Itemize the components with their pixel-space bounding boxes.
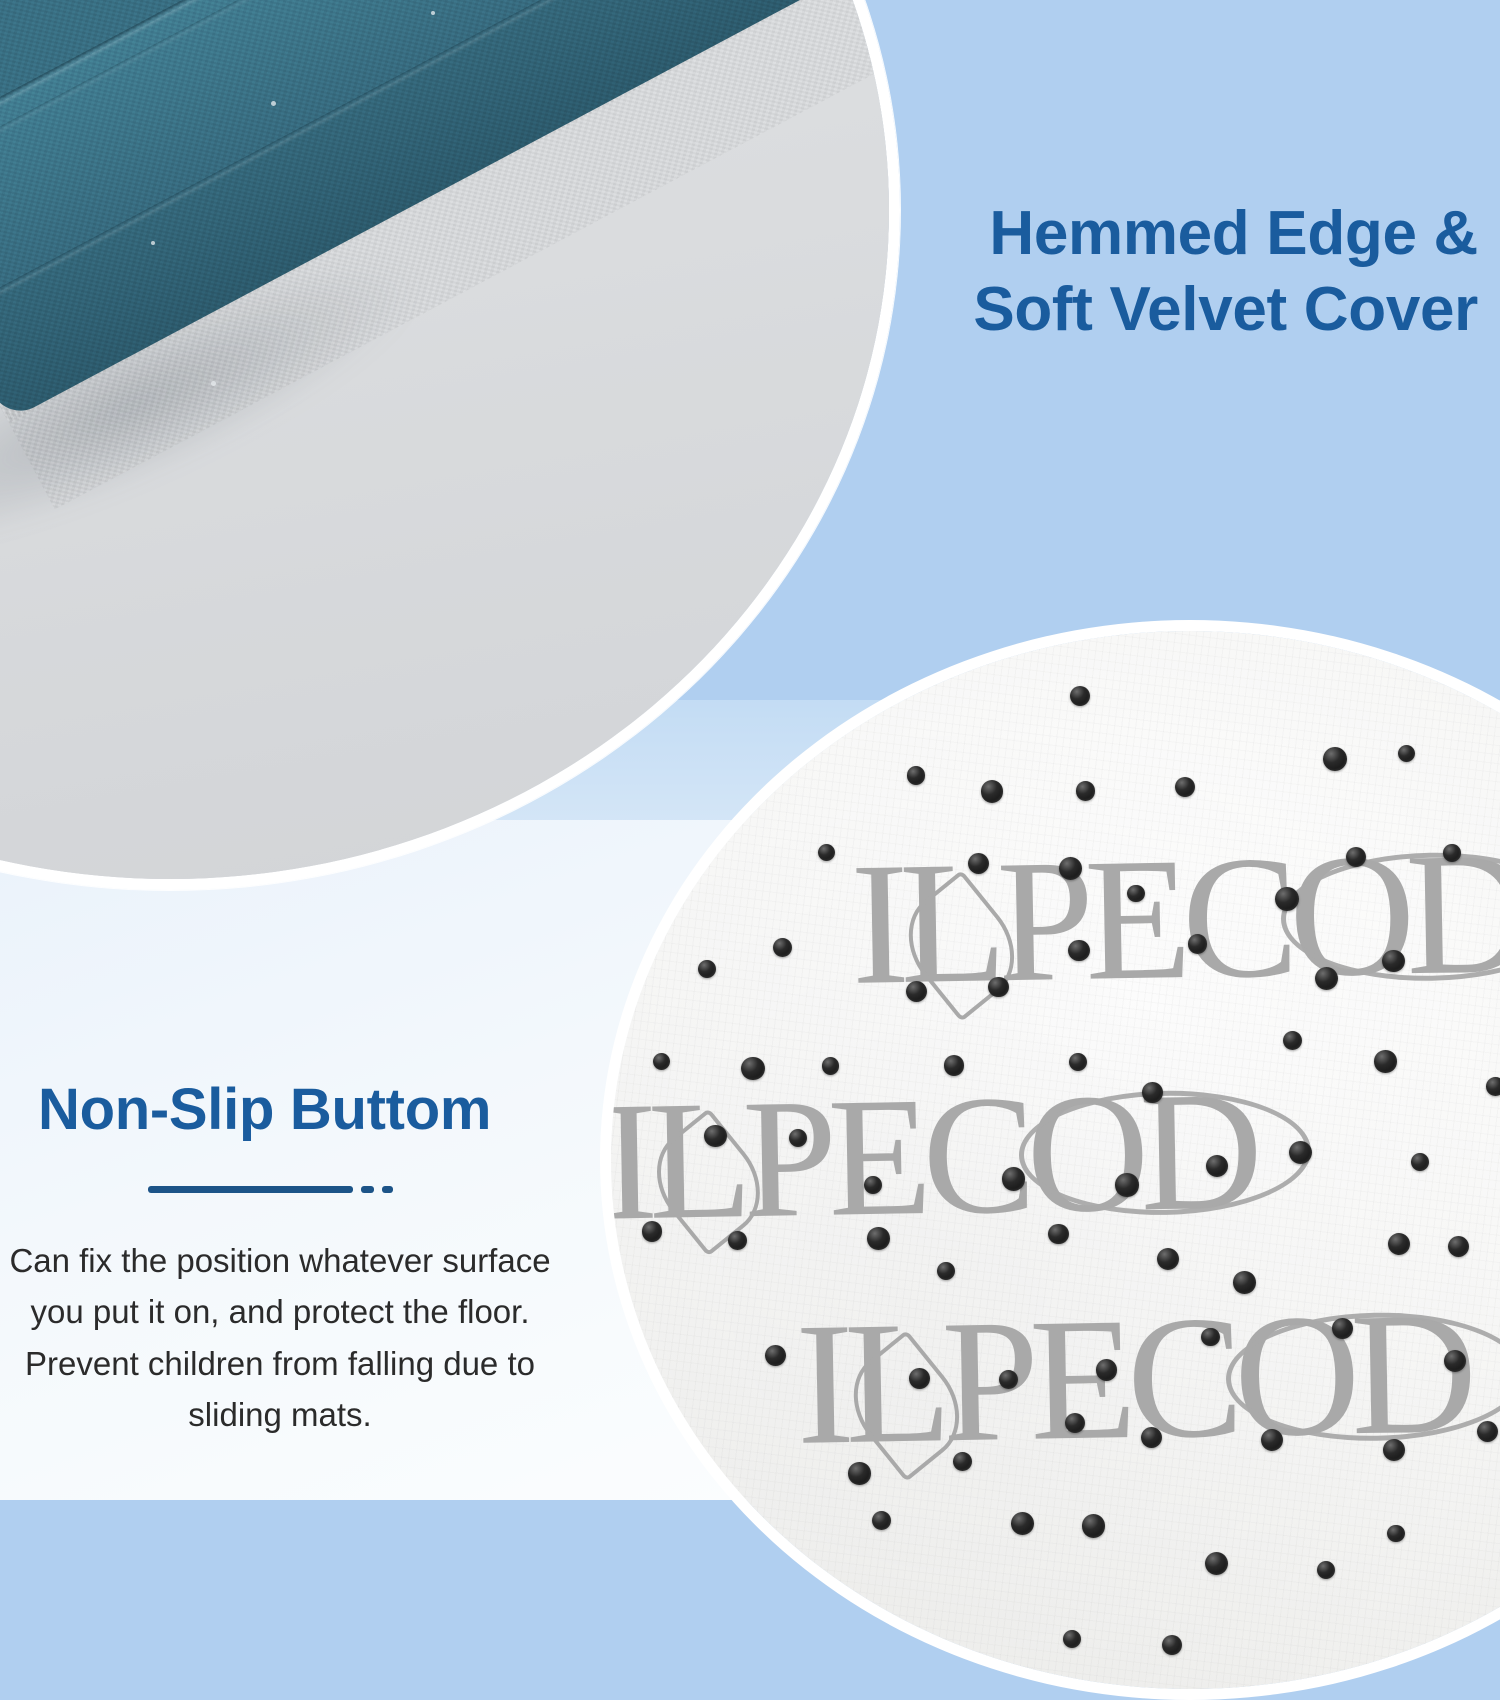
grip-dot bbox=[1387, 1525, 1405, 1543]
heading-line-1: Hemmed Edge & bbox=[758, 196, 1478, 272]
divider-bar bbox=[148, 1186, 353, 1193]
grip-dot bbox=[1315, 967, 1338, 990]
grip-dot bbox=[1448, 1236, 1469, 1257]
grip-dot bbox=[937, 1262, 955, 1280]
grip-dot bbox=[1332, 1318, 1353, 1339]
grip-dot bbox=[867, 1227, 890, 1250]
grip-dot bbox=[642, 1221, 662, 1241]
non-slip-text-block: Non-Slip Buttom Can fix the position wha… bbox=[0, 1078, 560, 1441]
grip-dot bbox=[1076, 781, 1096, 801]
non-slip-heading: Non-Slip Buttom bbox=[0, 1078, 560, 1142]
body-line-4: sliding mats. bbox=[0, 1389, 560, 1440]
heading-line-2: Soft Velvet Cover bbox=[758, 272, 1478, 348]
body-line-2: you put it on, and protect the floor. bbox=[0, 1286, 560, 1337]
grip-dot bbox=[1486, 1077, 1500, 1096]
grip-dot bbox=[1275, 887, 1299, 911]
grip-dot bbox=[1283, 1031, 1302, 1050]
body-line-1: Can fix the position whatever surface bbox=[0, 1235, 560, 1286]
grip-dot bbox=[1162, 1635, 1182, 1655]
divider-dash bbox=[361, 1186, 374, 1193]
grip-dot bbox=[765, 1345, 786, 1366]
lint-fleck bbox=[151, 241, 155, 245]
grip-dot bbox=[909, 1368, 930, 1389]
grip-dot bbox=[1382, 950, 1404, 972]
grip-dot bbox=[1096, 1359, 1117, 1380]
divider-dash bbox=[382, 1186, 393, 1193]
grip-dot bbox=[1188, 934, 1207, 953]
lint-fleck bbox=[271, 101, 276, 106]
grip-dot bbox=[728, 1231, 747, 1250]
mat-surface: ILPECOD ILPECOD ILPECOD bbox=[611, 631, 1500, 1689]
grip-dot bbox=[906, 981, 927, 1002]
grip-dot bbox=[864, 1176, 882, 1194]
grip-dot bbox=[1082, 1514, 1105, 1537]
hemmed-edge-heading: Hemmed Edge & Soft Velvet Cover bbox=[758, 196, 1478, 349]
lint-fleck bbox=[211, 381, 216, 386]
grip-dot bbox=[944, 1055, 964, 1075]
grip-dot bbox=[1388, 1233, 1410, 1255]
grip-dot bbox=[1069, 1053, 1087, 1071]
grip-dot bbox=[848, 1462, 870, 1484]
grip-dot bbox=[1205, 1552, 1228, 1575]
grip-dot bbox=[1233, 1271, 1256, 1294]
grip-dot bbox=[1115, 1173, 1138, 1196]
non-slip-body-copy: Can fix the position whatever surface yo… bbox=[0, 1235, 560, 1441]
grip-dot bbox=[1346, 847, 1366, 867]
grip-dot bbox=[907, 766, 925, 784]
body-line-3: Prevent children from falling due to bbox=[0, 1338, 560, 1389]
grip-dot bbox=[1065, 1413, 1085, 1433]
decorative-divider bbox=[0, 1186, 560, 1193]
grip-dot bbox=[653, 1053, 670, 1070]
grip-dot bbox=[1002, 1167, 1026, 1191]
grip-dot bbox=[1068, 940, 1090, 962]
grip-dot bbox=[1201, 1328, 1219, 1346]
grip-dot bbox=[981, 780, 1004, 803]
grip-dot bbox=[1011, 1512, 1034, 1535]
lint-fleck bbox=[431, 11, 435, 15]
grip-dot bbox=[822, 1057, 839, 1074]
grip-dot bbox=[1142, 1082, 1163, 1103]
watermark-logo: ILPECOD bbox=[795, 1285, 1469, 1472]
grip-dot bbox=[1059, 857, 1082, 880]
grip-dot bbox=[789, 1129, 807, 1147]
grip-dot bbox=[1374, 1050, 1396, 1072]
grip-dot bbox=[1477, 1421, 1498, 1442]
grip-dot bbox=[741, 1057, 764, 1080]
grip-dot bbox=[1411, 1153, 1429, 1171]
non-slip-bottom-photo: ILPECOD ILPECOD ILPECOD bbox=[600, 620, 1500, 1700]
grip-dot bbox=[698, 960, 716, 978]
grip-dot bbox=[1289, 1141, 1312, 1164]
grip-dot bbox=[704, 1125, 726, 1147]
grip-dot bbox=[999, 1370, 1018, 1389]
grip-dot bbox=[1443, 844, 1461, 862]
watermark-logo: ILPECOD bbox=[850, 825, 1500, 1012]
grip-dot bbox=[953, 1452, 972, 1471]
